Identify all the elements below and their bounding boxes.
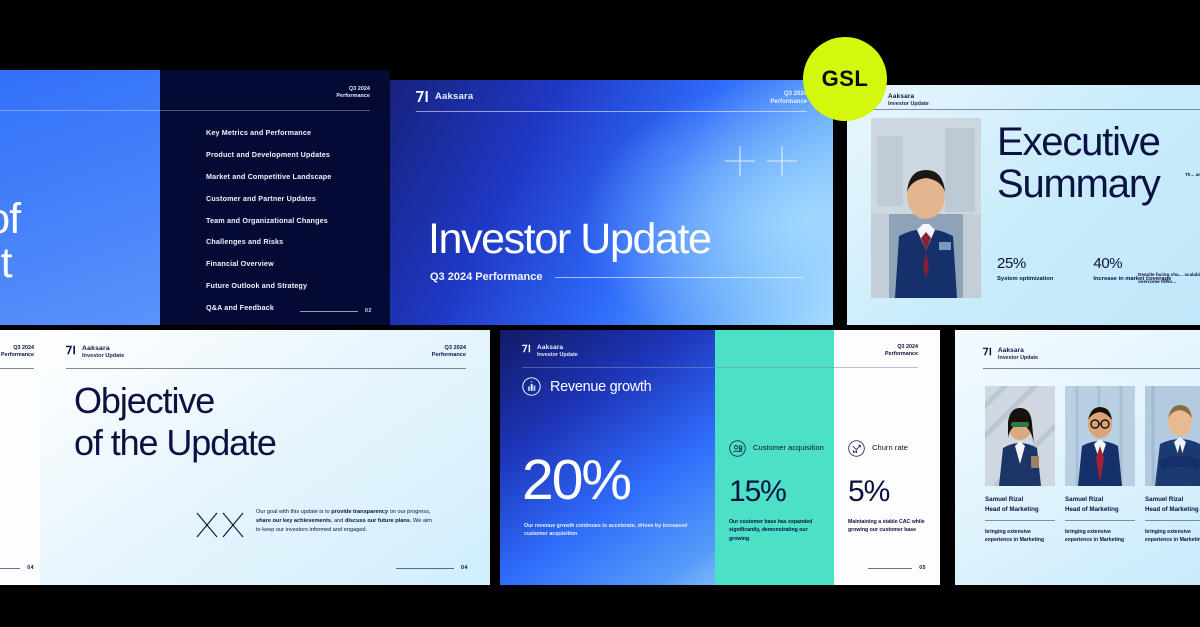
meta-label: Performance <box>770 99 807 107</box>
team-member-name: Samuel Rizal <box>985 496 1055 503</box>
portrait-man-arms-crossed-icon <box>1145 386 1200 486</box>
slide-executive-summary[interactable]: Aaksara Investor Update <box>847 85 1200 325</box>
header-divider <box>522 367 918 368</box>
page-number: 04 <box>27 565 34 571</box>
team-card[interactable]: Samuel Rizal Head of Marketing bringing … <box>985 386 1055 544</box>
slide-meta: Q3 2024 Performance <box>432 345 466 360</box>
toc-title-line2: ontent <box>0 242 20 286</box>
header-divider <box>0 110 370 111</box>
portrait-man-glasses-icon <box>1065 386 1135 486</box>
exec-title-line2: Summary <box>997 163 1160 205</box>
team-photo <box>1145 386 1200 486</box>
toc-list: Key Metrics and Performance Product and … <box>206 128 372 325</box>
team-member-bio: bringing extensive experience in Marketi… <box>1145 528 1200 544</box>
brand-name: Aaksara <box>998 347 1038 355</box>
exec-header: Aaksara Investor Update <box>873 93 1200 108</box>
exec-blurb-top: Th… ac… m… <box>1185 172 1200 179</box>
meta-quarter: Q3 2024 <box>885 344 918 351</box>
team-member-name: Samuel Rizal <box>1065 496 1135 503</box>
pager-dash <box>300 311 358 312</box>
brand-subtitle: Investor Update <box>82 353 124 360</box>
objective-header: Aaksara Investor Update Q3 2024 Performa… <box>66 345 466 360</box>
sliver-header: Q3 2024 Performance <box>0 345 34 359</box>
double-x-icon <box>195 511 245 539</box>
page-indicator: 02 <box>300 308 372 314</box>
pager-dash <box>0 568 20 569</box>
kpi-header: Churn rate <box>848 440 932 457</box>
list-item[interactable]: Customer and Partner Updates <box>206 194 372 203</box>
customer-acquisition-icon <box>729 440 746 457</box>
revenue-heading: Revenue growth <box>550 379 651 395</box>
kpi-churn-rate: Churn rate 5% Maintaining a stable CAC w… <box>848 440 932 535</box>
pager-dash <box>396 568 454 569</box>
slide-table-of-contents[interactable]: Investor Update Q3 2024 Performance able… <box>0 70 390 325</box>
brand-name: Aaksara <box>537 344 578 352</box>
page-number: 02 <box>365 308 372 314</box>
list-item[interactable]: Team and Organizational Changes <box>206 216 372 225</box>
brand-subtitle: Investor Update <box>888 101 929 108</box>
objective-title-line2: of the Update <box>74 422 276 464</box>
divider <box>985 520 1055 521</box>
team-photo <box>985 386 1055 486</box>
header-divider <box>416 111 807 112</box>
hero-header: Aaksara Q3 2024 Performance <box>416 91 807 107</box>
toc-gradient-panel <box>0 70 160 325</box>
aaksara-mark-icon <box>416 91 429 102</box>
objective-body: Our goal with this update is to provide … <box>256 508 436 535</box>
kpi-label: Customer acquisition <box>753 443 824 453</box>
slide-investor-update-hero[interactable]: Aaksara Q3 2024 Performance Investor Upd… <box>390 80 833 325</box>
team-member-name: Samuel Rizal <box>1145 496 1200 503</box>
portrait-illustration-icon <box>871 118 981 298</box>
portrait-photo <box>871 118 981 298</box>
hero-subtitle-row: Q3 2024 Performance <box>430 271 803 283</box>
stat-label: System optimization <box>997 275 1053 283</box>
exec-blurb-bottom: Despite facing cha… scalability, we hav…… <box>1138 271 1200 286</box>
divider <box>1145 520 1200 521</box>
meta-label: Performance <box>1 352 34 359</box>
page-title: Executive Summary <box>997 121 1160 206</box>
revenue-main-caption: Our revenue growth continues to accelera… <box>524 522 689 539</box>
churn-rate-icon <box>848 440 865 457</box>
kpi-header: Customer acquisition <box>729 440 827 457</box>
brand-lockup: Aaksara Investor Update <box>983 347 1038 361</box>
gsl-badge[interactable]: GSL <box>803 37 887 121</box>
divider <box>1065 520 1135 521</box>
page-title: Investor Update <box>428 218 711 261</box>
meta-label: Performance <box>432 352 466 359</box>
brand-subtitle: Investor Update <box>998 355 1038 362</box>
plus-grid-icon <box>725 146 797 176</box>
objective-title-line1: Objective <box>74 380 276 422</box>
meta-quarter: Q3 2024 <box>1 345 34 352</box>
slide-objective[interactable]: Aaksara Investor Update Q3 2024 Performa… <box>40 330 490 585</box>
team-card[interactable]: Samuel Rizal Head of Marketing bringing … <box>1145 386 1200 544</box>
bar-chart-circle-icon <box>522 377 541 396</box>
subtitle-rule <box>555 277 803 278</box>
portrait-woman-icon <box>985 386 1055 486</box>
gsl-badge-label: GSL <box>822 66 869 92</box>
meta-quarter: Q3 2024 <box>336 86 370 93</box>
brand-lockup: Aaksara Investor Update <box>66 345 124 360</box>
slide-meta: Q3 2024 Performance <box>1 345 34 359</box>
aaksara-mark-icon <box>983 347 992 356</box>
screenshot-stage: Investor Update Q3 2024 Performance able… <box>0 0 1200 627</box>
team-header: Aaksara Investor Update <box>983 347 1200 361</box>
meta-quarter: Q3 2024 <box>432 345 466 352</box>
meta-label: Performance <box>885 351 918 358</box>
slide-sliver-bottom-left: Q3 2024 Performance 04 <box>0 330 40 585</box>
team-member-bio: bringing extensive experience in Marketi… <box>1065 528 1135 544</box>
team-member-bio: bringing extensive experience in Marketi… <box>985 528 1055 544</box>
stat-value: 40% <box>1093 255 1171 272</box>
page-indicator: 04 <box>396 565 468 571</box>
brand-name: Aaksara <box>82 345 124 353</box>
header-divider <box>66 368 466 369</box>
header-divider <box>873 109 1200 110</box>
page-indicator: 05 <box>868 565 926 571</box>
kpi-value: 15% <box>729 477 827 507</box>
slide-meta: Q3 2024 Performance <box>770 91 807 107</box>
brand-lockup: Aaksara <box>416 91 473 103</box>
list-item[interactable]: Key Metrics and Performance <box>206 128 372 137</box>
revenue-main-value: 20% <box>522 452 630 509</box>
revenue-header: Aaksara Investor Update Q3 2024 Performa… <box>522 344 918 359</box>
team-photo <box>1065 386 1135 486</box>
team-member-role: Head of Marketing <box>1145 506 1200 513</box>
kpi-caption: Our customer base has expanded significa… <box>729 518 827 543</box>
aaksara-mark-icon <box>66 345 76 355</box>
slide-meta: Q3 2024 Performance <box>885 344 918 358</box>
team-member-role: Head of Marketing <box>1065 506 1135 513</box>
list-item[interactable]: Challenges and Risks <box>206 237 372 246</box>
brand-name: Aaksara <box>435 91 473 103</box>
slide-meta: Q3 2024 Performance <box>336 86 370 100</box>
page-title: Objective of the Update <box>74 380 276 465</box>
stat-value: 25% <box>997 255 1053 272</box>
page-title: able of ontent <box>0 198 20 286</box>
list-item[interactable]: Product and Development Updates <box>206 150 372 159</box>
meta-quarter: Q3 2024 <box>770 91 807 99</box>
team-card[interactable]: Samuel Rizal Head of Marketing bringing … <box>1065 386 1135 544</box>
page-indicator: 04 <box>0 565 34 571</box>
toc-title-line1: able of <box>0 198 20 242</box>
team-card-list: Samuel Rizal Head of Marketing bringing … <box>985 386 1200 544</box>
stat-item: 25% System optimization <box>997 255 1053 283</box>
kpi-label: Churn rate <box>872 443 908 453</box>
header-divider <box>983 368 1200 369</box>
meta-label: Performance <box>336 93 370 100</box>
list-item[interactable]: Financial Overview <box>206 259 372 268</box>
aaksara-mark-icon <box>522 344 531 353</box>
kpi-customer-acquisition: Customer acquisition 15% Our customer ba… <box>729 440 827 543</box>
header-divider <box>0 368 34 369</box>
page-number: 04 <box>461 565 468 571</box>
slide-revenue-growth[interactable]: Aaksara Investor Update Q3 2024 Performa… <box>500 330 940 585</box>
slide-team[interactable]: Aaksara Investor Update <box>955 330 1200 585</box>
exec-title-line1: Executive <box>997 121 1160 163</box>
page-subtitle: Q3 2024 Performance <box>430 271 543 283</box>
team-member-role: Head of Marketing <box>985 506 1055 513</box>
page-number: 05 <box>919 565 926 571</box>
pager-dash <box>868 568 912 569</box>
brand-subtitle: Investor Update <box>537 352 578 359</box>
list-item[interactable]: Market and Competitive Landscape <box>206 172 372 181</box>
brand-name: Aaksara <box>888 93 929 101</box>
revenue-heading-row: Revenue growth <box>522 377 651 396</box>
toc-header: Investor Update Q3 2024 Performance <box>0 86 370 100</box>
list-item[interactable]: Future Outlook and Strategy <box>206 281 372 290</box>
brand-lockup: Aaksara Investor Update <box>522 344 578 359</box>
kpi-value: 5% <box>848 477 932 507</box>
kpi-caption: Maintaining a stable CAC while growing o… <box>848 518 932 535</box>
